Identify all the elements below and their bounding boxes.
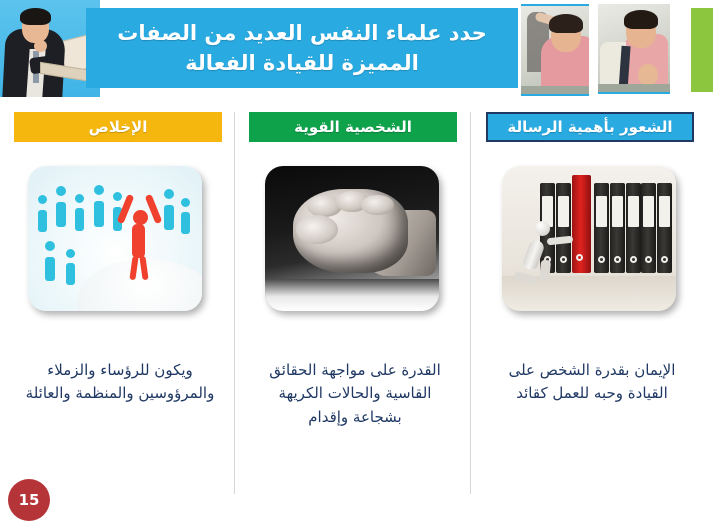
person-hair-shape: [624, 10, 658, 29]
crowd-figure-shape: [94, 185, 104, 195]
leader-head-shape: [133, 210, 148, 225]
crowd-figure-shape: [75, 194, 84, 203]
crowd-figure-shape: [75, 208, 84, 231]
column-header-label: الشخصية القوية: [294, 118, 412, 136]
binder-shape: [610, 183, 625, 273]
crowd-figure-shape: [181, 198, 190, 207]
green-decorative-block: [691, 8, 713, 92]
red-binder-shape: [572, 175, 591, 274]
person-hand-shape: [34, 40, 47, 52]
table-surface-shape: [265, 279, 439, 311]
businessman-with-laptop-photo: [0, 0, 100, 97]
crowd-figure-shape: [66, 249, 75, 258]
binder-shape: [657, 183, 672, 273]
column-caption: ويكون للرؤساء والزملاء والمرؤوسين والمنظ…: [18, 359, 222, 406]
column-caption: القدرة على مواجهة الحقائق القاسية والحال…: [253, 359, 457, 429]
crowd-figure-shape: [56, 186, 66, 196]
knuckle-shape: [361, 195, 394, 215]
crowd-figure-shape: [45, 257, 55, 281]
column-strong-personality: الشخصية القوية القدرة على مواجهة الحقائق…: [243, 104, 475, 504]
column-sincerity: الإخلاص: [8, 104, 240, 504]
desk-shape: [598, 84, 670, 92]
binder-shape: [641, 183, 656, 273]
desk-shape: [521, 86, 589, 94]
meeting-colleagues-photo: [521, 4, 589, 96]
column-header-amber: الإخلاص: [14, 112, 222, 142]
clenched-fist-image: [265, 166, 439, 311]
crowd-figure-shape: [66, 263, 75, 285]
crowd-figure-shape: [38, 210, 47, 232]
crowd-figure-shape: [113, 192, 122, 201]
crowd-figure-shape: [181, 212, 190, 234]
page-number-badge: 15: [8, 479, 50, 521]
column-sense-of-mission: الشعور بأهمية الرسالة الإيمان بقدرة الشخ…: [480, 104, 712, 504]
leader-body-shape: [132, 224, 145, 258]
column-header-blue: الشعور بأهمية الرسالة: [486, 112, 694, 142]
figure-head-shape: [535, 221, 550, 236]
person-hair-shape: [20, 8, 51, 25]
crowd-figure-shape: [45, 241, 55, 251]
crowd-figure-shape: [56, 202, 66, 227]
presentation-slide: حدد علماء النفس العديد من الصفات المميزة…: [0, 0, 713, 529]
crowd-figure-shape: [164, 189, 174, 199]
person-hair-shape: [549, 14, 583, 33]
slide-header-band: حدد علماء النفس العديد من الصفات المميزة…: [86, 8, 518, 88]
crowd-figure-shape: [38, 195, 47, 204]
binder-shape: [626, 183, 641, 273]
column-header-label: الشعور بأهمية الرسالة: [507, 118, 672, 136]
leader-pushing-red-binder-image: [502, 166, 676, 311]
content-columns: الشعور بأهمية الرسالة الإيمان بقدرة الشخ…: [0, 104, 713, 504]
person-hand-shape: [638, 64, 658, 86]
column-header-label: الإخلاص: [89, 118, 148, 136]
binder-shape: [556, 183, 571, 273]
thinking-businessman-photo: [598, 4, 670, 94]
column-caption: الإيمان بقدرة الشخص على القيادة وحبه للع…: [490, 359, 694, 406]
crowd-figure-shape: [94, 201, 104, 227]
podium-shape: [77, 259, 202, 311]
binder-shape: [594, 183, 609, 273]
column-header-green: الشخصية القوية: [249, 112, 457, 142]
crowd-figure-shape: [164, 205, 174, 230]
red-leader-on-podium-with-crowd-image: [28, 166, 202, 311]
page-number-label: 15: [19, 491, 40, 509]
page-title: حدد علماء النفس العديد من الصفات المميزة…: [100, 18, 504, 79]
